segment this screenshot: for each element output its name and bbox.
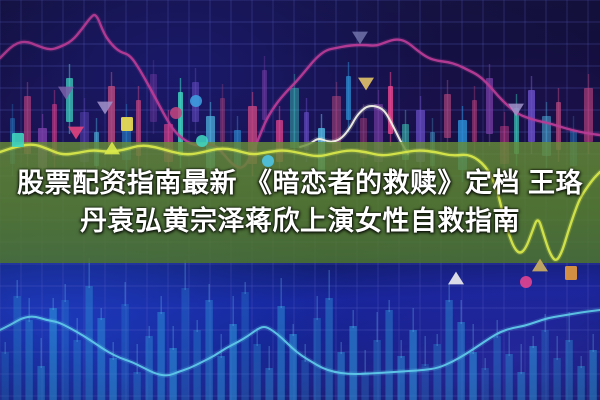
headline-line-2: 丹袁弘黄宗泽蒋欣上演女性自救指南 <box>0 202 600 240</box>
headline-line-1: 股票配资指南最新 《暗恋者的救赎》定档 王珞 <box>0 164 600 202</box>
headline-text: 股票配资指南最新 《暗恋者的救赎》定档 王珞 丹袁弘黄宗泽蒋欣上演女性自救指南 <box>0 164 600 241</box>
banner-image: 股票配资指南最新 《暗恋者的救赎》定档 王珞 丹袁弘黄宗泽蒋欣上演女性自救指南 <box>0 0 600 400</box>
